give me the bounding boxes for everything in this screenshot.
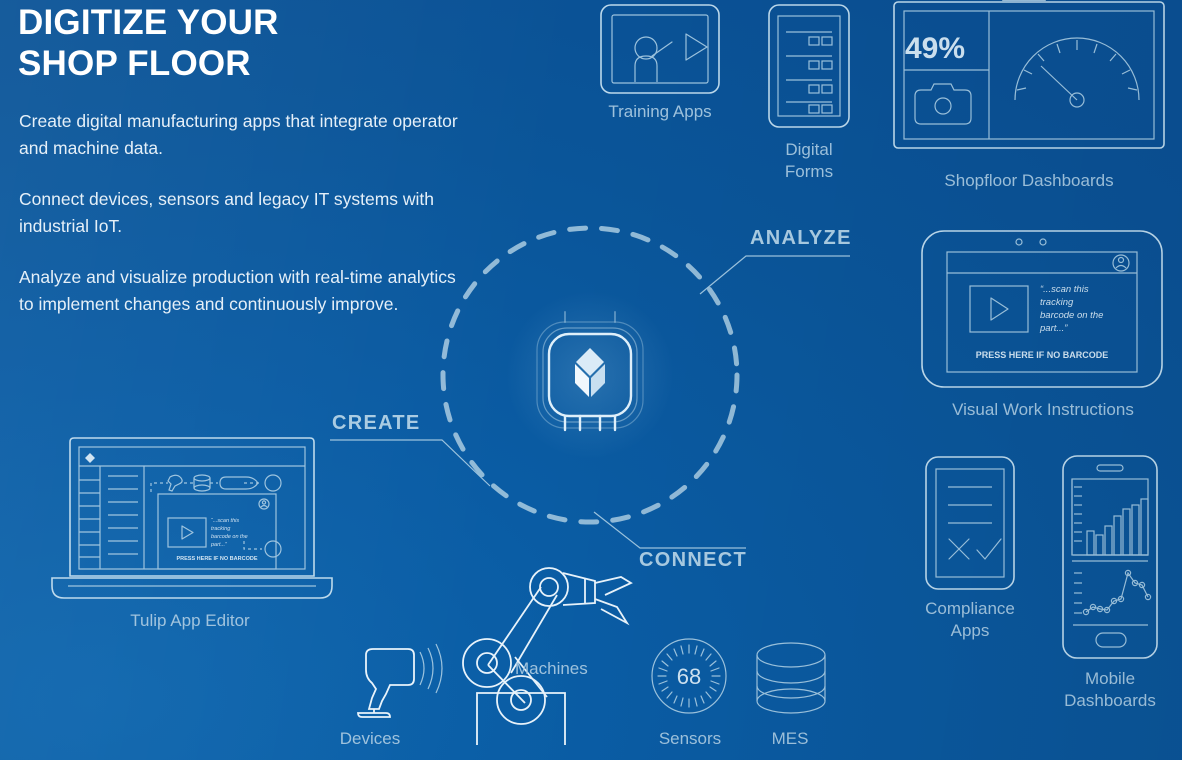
page-title: DIGITIZE YOUR SHOP FLOOR xyxy=(18,2,518,84)
caption-mobile-dashboards: Mobile Dashboards xyxy=(1046,668,1174,712)
tulip-logo-mark xyxy=(575,348,605,397)
dashboard-percent-value: 49% xyxy=(905,32,965,66)
barcode-scanner-icon xyxy=(345,638,445,726)
step-label-create: CREATE xyxy=(332,412,421,435)
connect-leader-line xyxy=(594,512,774,557)
caption-shopfloor-dashboards: Shopfloor Dashboards xyxy=(898,170,1160,192)
vwi-quote-line-4: part...” xyxy=(1039,323,1068,334)
caption-visual-work-instructions: Visual Work Instructions xyxy=(912,399,1174,421)
caption-compliance-apps: Compliance Apps xyxy=(905,598,1035,642)
body-copy: Create digital manufacturing apps that i… xyxy=(19,108,469,342)
vwi-quote-line-2: tracking xyxy=(1040,297,1074,308)
caption-tulip-app-editor: Tulip App Editor xyxy=(92,610,288,632)
caption-digital-forms: Digital Forms xyxy=(748,139,870,183)
svg-text:part...”: part...” xyxy=(210,542,228,548)
caption-training-apps: Training Apps xyxy=(579,101,741,123)
laptop-editor-icon: “...scan this tracking barcode on the pa… xyxy=(48,436,336,602)
headline-line-1: DIGITIZE YOUR xyxy=(18,2,518,43)
sensor-dial-icon: 68 xyxy=(650,637,730,717)
tulip-chip-logo xyxy=(515,300,665,450)
headline-line-2: SHOP FLOOR xyxy=(18,43,518,84)
sensor-value: 68 xyxy=(677,664,701,689)
infographic-canvas: DIGITIZE YOUR SHOP FLOOR Create digital … xyxy=(0,0,1182,760)
svg-text:“...scan this: “...scan this xyxy=(211,518,239,524)
create-leader-line xyxy=(330,434,540,494)
svg-text:barcode on the: barcode on the xyxy=(211,534,248,540)
monitor-play-icon xyxy=(600,4,720,96)
wall-monitor-gauge-icon xyxy=(893,0,1165,158)
tablet-instructions-icon: “...scan this tracking barcode on the pa… xyxy=(921,230,1163,388)
vwi-barcode-button[interactable]: PRESS HERE IF NO BARCODE xyxy=(976,350,1109,360)
caption-machines: Machines xyxy=(515,658,645,680)
vwi-quote-line-3: barcode on the xyxy=(1040,310,1103,321)
caption-devices: Devices xyxy=(310,728,430,750)
step-label-analyze: ANALYZE xyxy=(750,227,852,250)
body-paragraph-1: Create digital manufacturing apps that i… xyxy=(19,108,469,161)
body-paragraph-3: Analyze and visualize production with re… xyxy=(19,264,469,317)
vwi-quote-line-1: “...scan this xyxy=(1040,284,1089,295)
smartphone-charts-icon xyxy=(1062,455,1158,659)
svg-text:tracking: tracking xyxy=(211,526,231,532)
database-cylinder-icon xyxy=(755,640,827,720)
tablet-form-icon xyxy=(768,4,850,128)
body-paragraph-2: Connect devices, sensors and legacy IT s… xyxy=(19,186,469,239)
checklist-tablet-icon xyxy=(925,456,1015,590)
caption-mes: MES xyxy=(730,728,850,750)
svg-text:PRESS HERE IF NO BARCODE: PRESS HERE IF NO BARCODE xyxy=(177,556,258,562)
analyze-leader-line xyxy=(700,250,860,310)
